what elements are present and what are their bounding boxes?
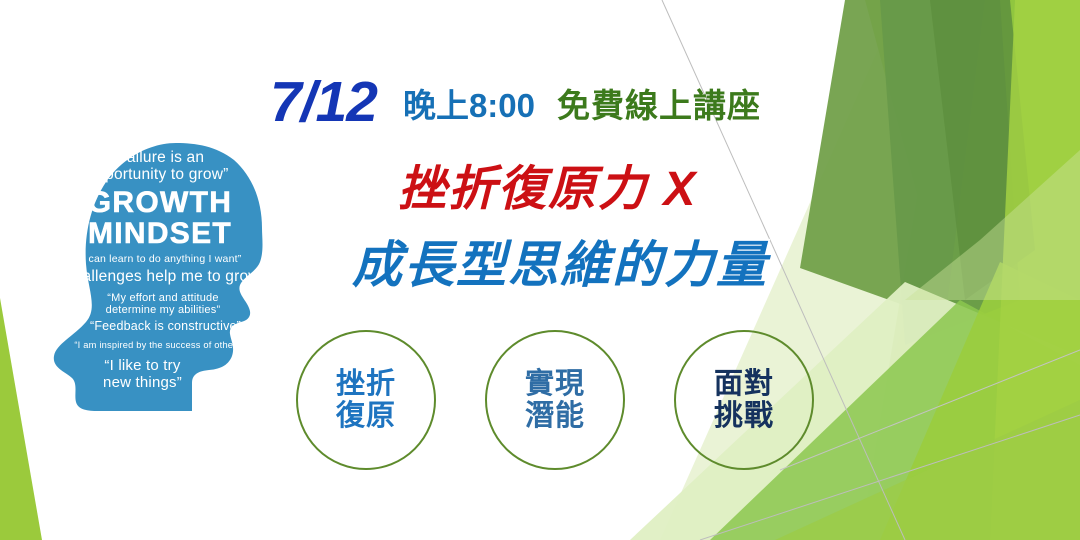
head-heading: GROWTH MINDSET (62, 188, 258, 250)
event-free-badge: 免費線上講座 (557, 89, 761, 122)
key-point-3-line-2: 挑戰 (714, 400, 774, 432)
head-quote-1: “Failure is an opportunity to grow” (58, 150, 258, 183)
title-line-1: 挫折復原力 X (398, 166, 697, 214)
event-date: 7/12 (270, 74, 377, 131)
key-point-circle-1[interactable]: 挫折 復原 (296, 330, 436, 470)
poster-canvas: “Failure is an opportunity to grow” GROW… (0, 0, 1080, 540)
key-point-2-line-2: 潛能 (525, 400, 585, 432)
key-point-1-line-1: 挫折 (336, 368, 396, 400)
key-point-circle-2[interactable]: 實現 潛能 (485, 330, 625, 470)
head-quote-5: “Feedback is constructive” (58, 320, 273, 334)
key-point-1-line-2: 復原 (336, 400, 396, 432)
head-quote-2: “I can learn to do anything I want” (50, 254, 270, 265)
head-quote-4: “My effort and attitude determine my abi… (58, 292, 268, 317)
event-header-line: 7/12 晚上8:00 免費線上講座 (270, 72, 761, 129)
head-quote-3: “Challenges help me to grow” (42, 269, 280, 286)
key-point-2-line-1: 實現 (525, 368, 585, 400)
key-point-3-line-1: 面對 (714, 368, 774, 400)
event-time: 晚上8:00 (403, 89, 535, 122)
key-point-circle-3[interactable]: 面對 挑戰 (674, 330, 814, 470)
head-quote-6: “I am inspired by the success of others” (52, 340, 267, 350)
key-points-row: 挫折 復原 實現 潛能 面對 挑戰 (296, 330, 814, 470)
head-quote-7: “I like to try new things” (50, 358, 235, 391)
title-line-2: 成長型思維的力量 (352, 240, 768, 290)
